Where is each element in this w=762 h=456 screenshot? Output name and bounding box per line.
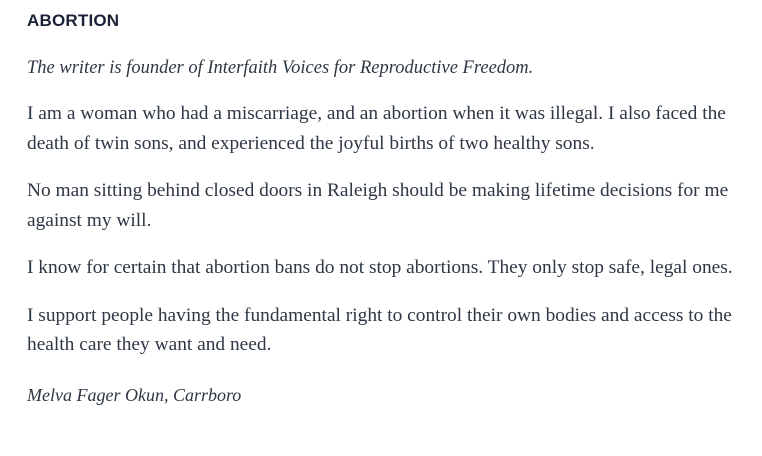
writer-attribution: The writer is founder of Interfaith Voic… (27, 32, 742, 81)
body-paragraph: I support people having the fundamental … (27, 283, 742, 360)
body-paragraph: I know for certain that abortion bans do… (27, 235, 742, 283)
body-paragraph: No man sitting behind closed doors in Ra… (27, 158, 742, 235)
author-signature: Melva Fager Okun, Carrboro (27, 360, 742, 408)
body-paragraph: I am a woman who had a miscarriage, and … (27, 81, 742, 158)
letter-to-editor: ABORTION The writer is founder of Interf… (0, 0, 762, 408)
section-kicker: ABORTION (27, 0, 742, 32)
